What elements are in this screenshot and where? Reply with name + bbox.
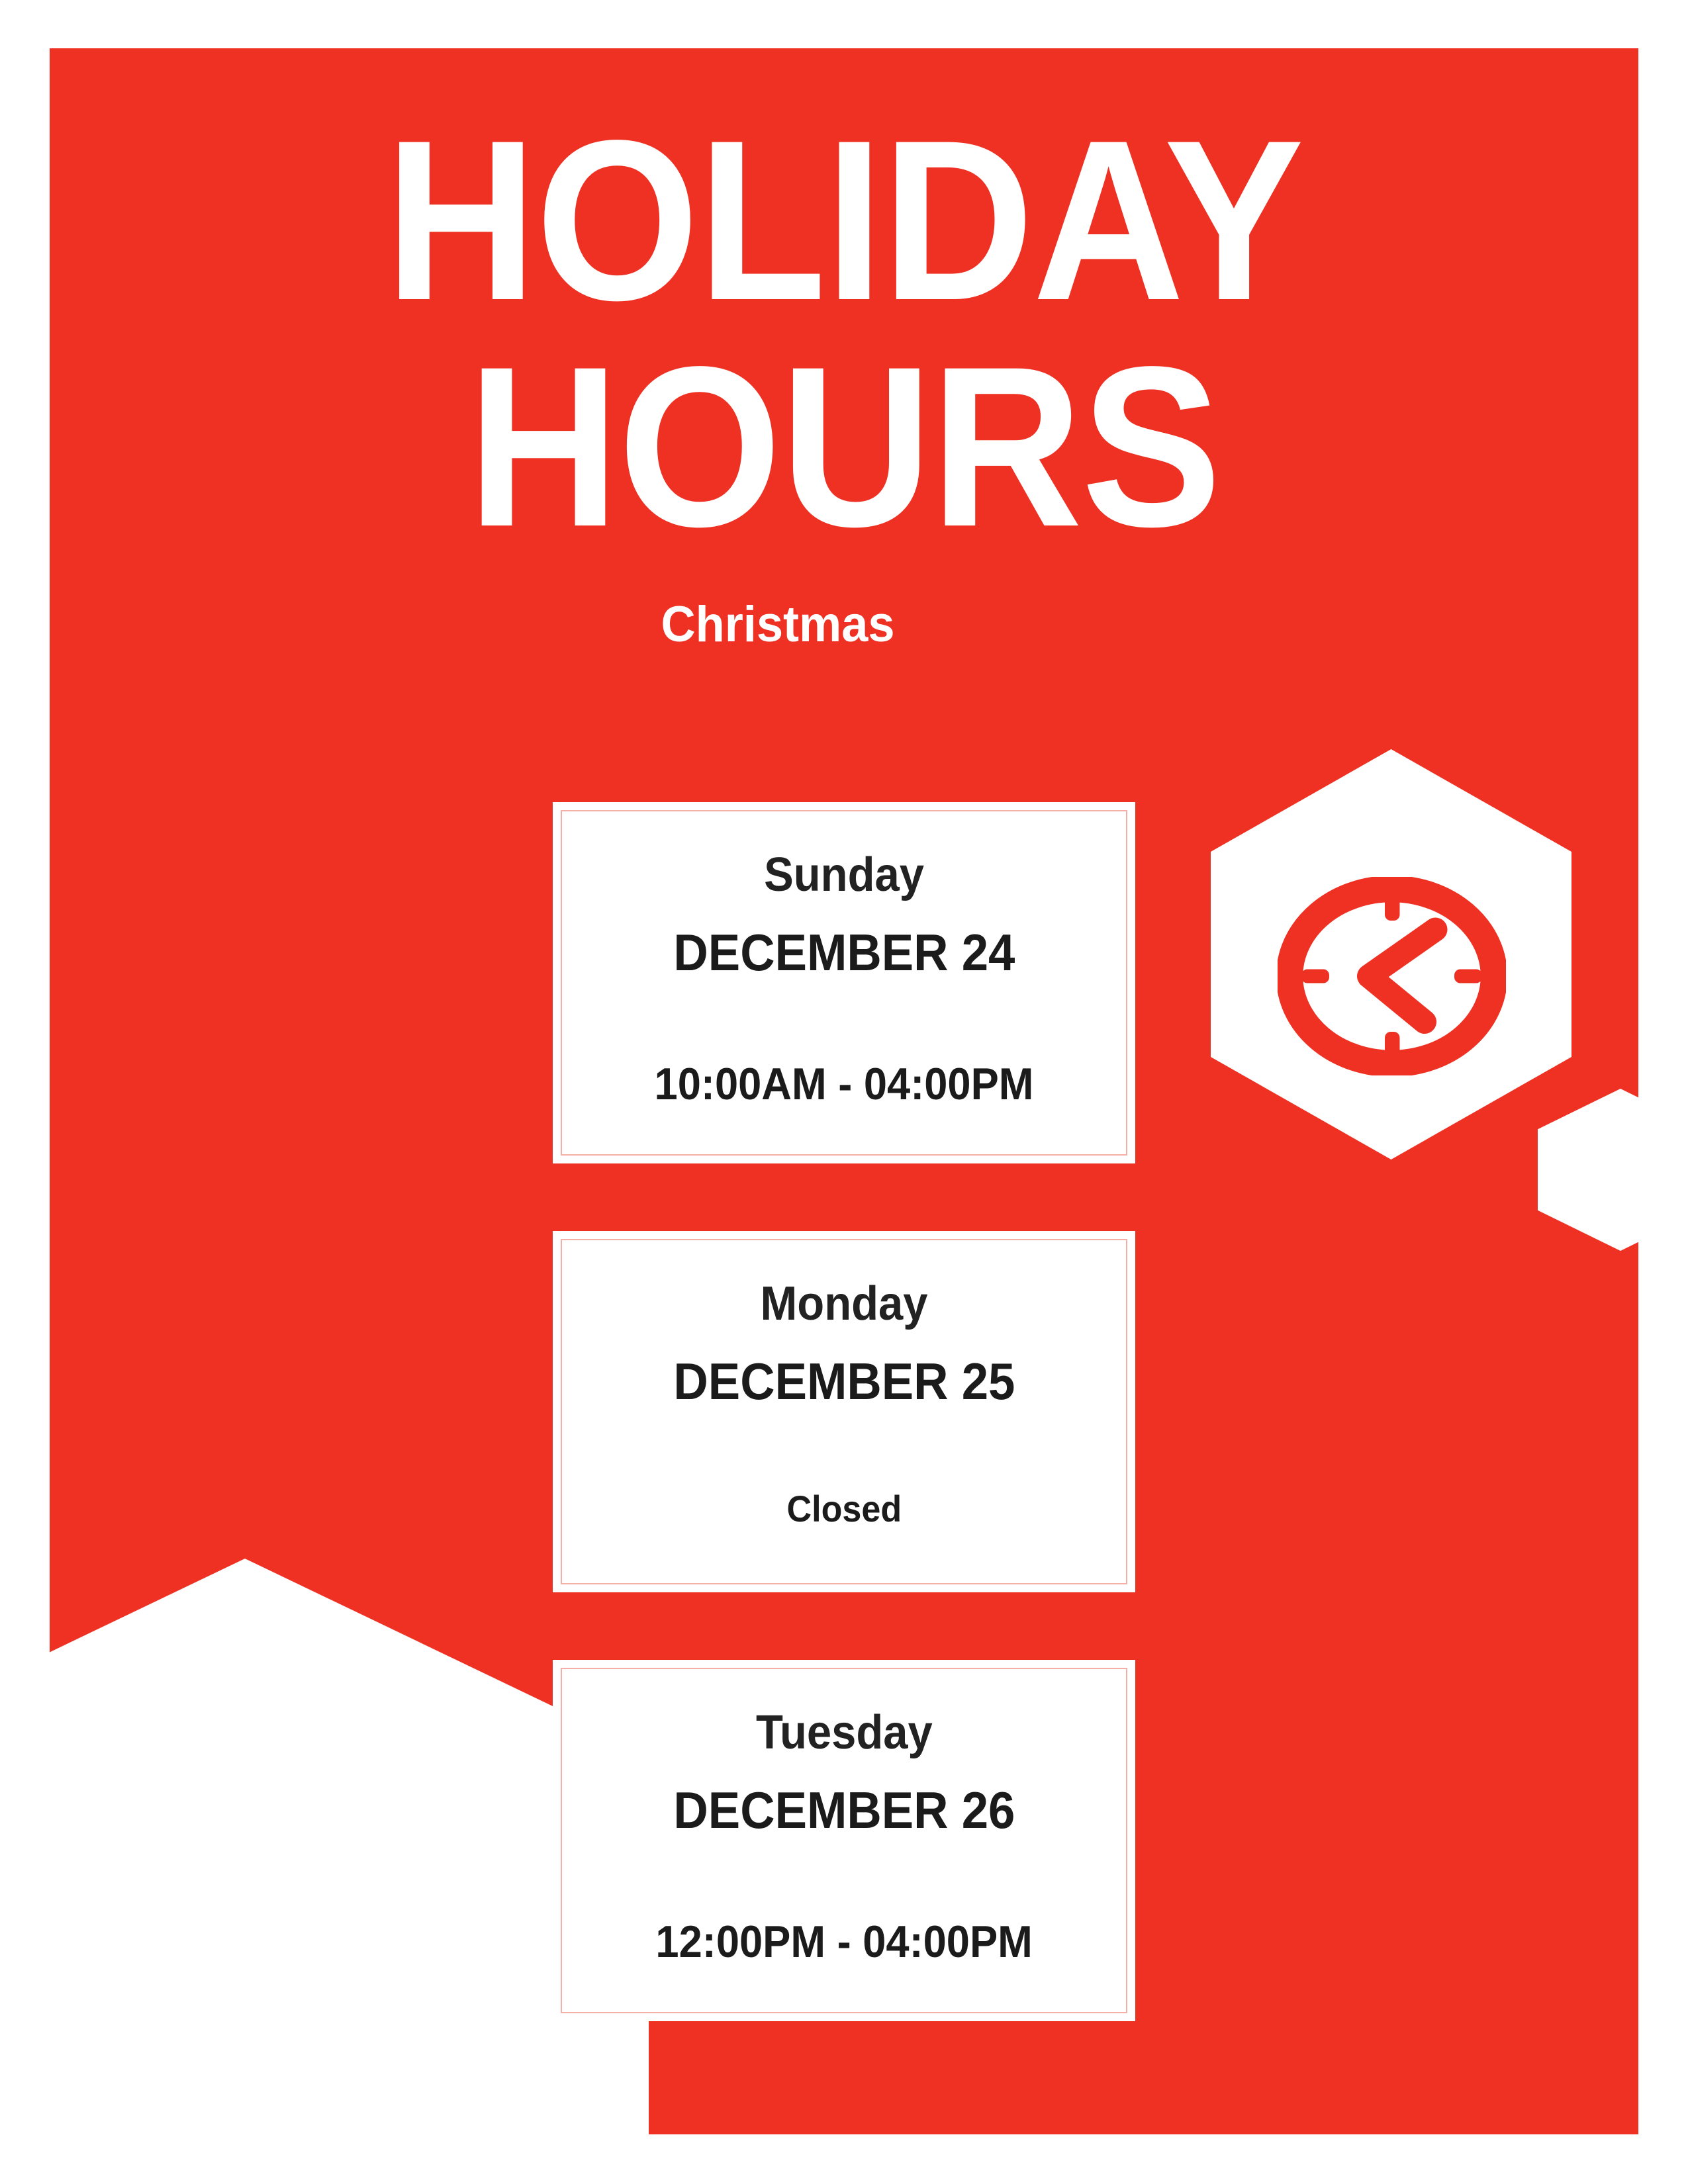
page-title: HOLIDAY HOURS: [113, 108, 1575, 560]
red-background-panel: HOLIDAY HOURS Christmas Sunday DECEMBER …: [50, 48, 1638, 2134]
poster-header: HOLIDAY HOURS Christmas: [50, 108, 1638, 610]
decorative-hexagon-small-right: [1538, 1089, 1638, 1251]
card-hours-label: 12:00PM - 04:00PM: [655, 1919, 1032, 1964]
card-date-label: DECEMBER 25: [673, 1355, 1015, 1407]
hours-card: Monday DECEMBER 25 Closed: [553, 1231, 1135, 1592]
card-date-label: DECEMBER 24: [673, 927, 1015, 978]
hours-card: Sunday DECEMBER 24 10:00AM - 04:00PM: [553, 802, 1135, 1163]
card-day-label: Tuesday: [756, 1709, 933, 1756]
clock-icon: [1278, 877, 1506, 1075]
card-date-label: DECEMBER 26: [673, 1784, 1015, 1836]
holiday-hours-poster: HOLIDAY HOURS Christmas Sunday DECEMBER …: [0, 0, 1688, 2184]
card-day-label: Monday: [761, 1280, 928, 1328]
card-hours-label: 10:00AM - 04:00PM: [655, 1062, 1034, 1107]
card-day-label: Sunday: [764, 851, 924, 899]
hours-card: Tuesday DECEMBER 26 12:00PM - 04:00PM: [553, 1660, 1135, 2021]
card-hours-label: Closed: [786, 1490, 902, 1527]
schedule-list: Sunday DECEMBER 24 10:00AM - 04:00PM Mon…: [553, 802, 1135, 2021]
poster-subtitle: Christmas: [50, 600, 1532, 650]
